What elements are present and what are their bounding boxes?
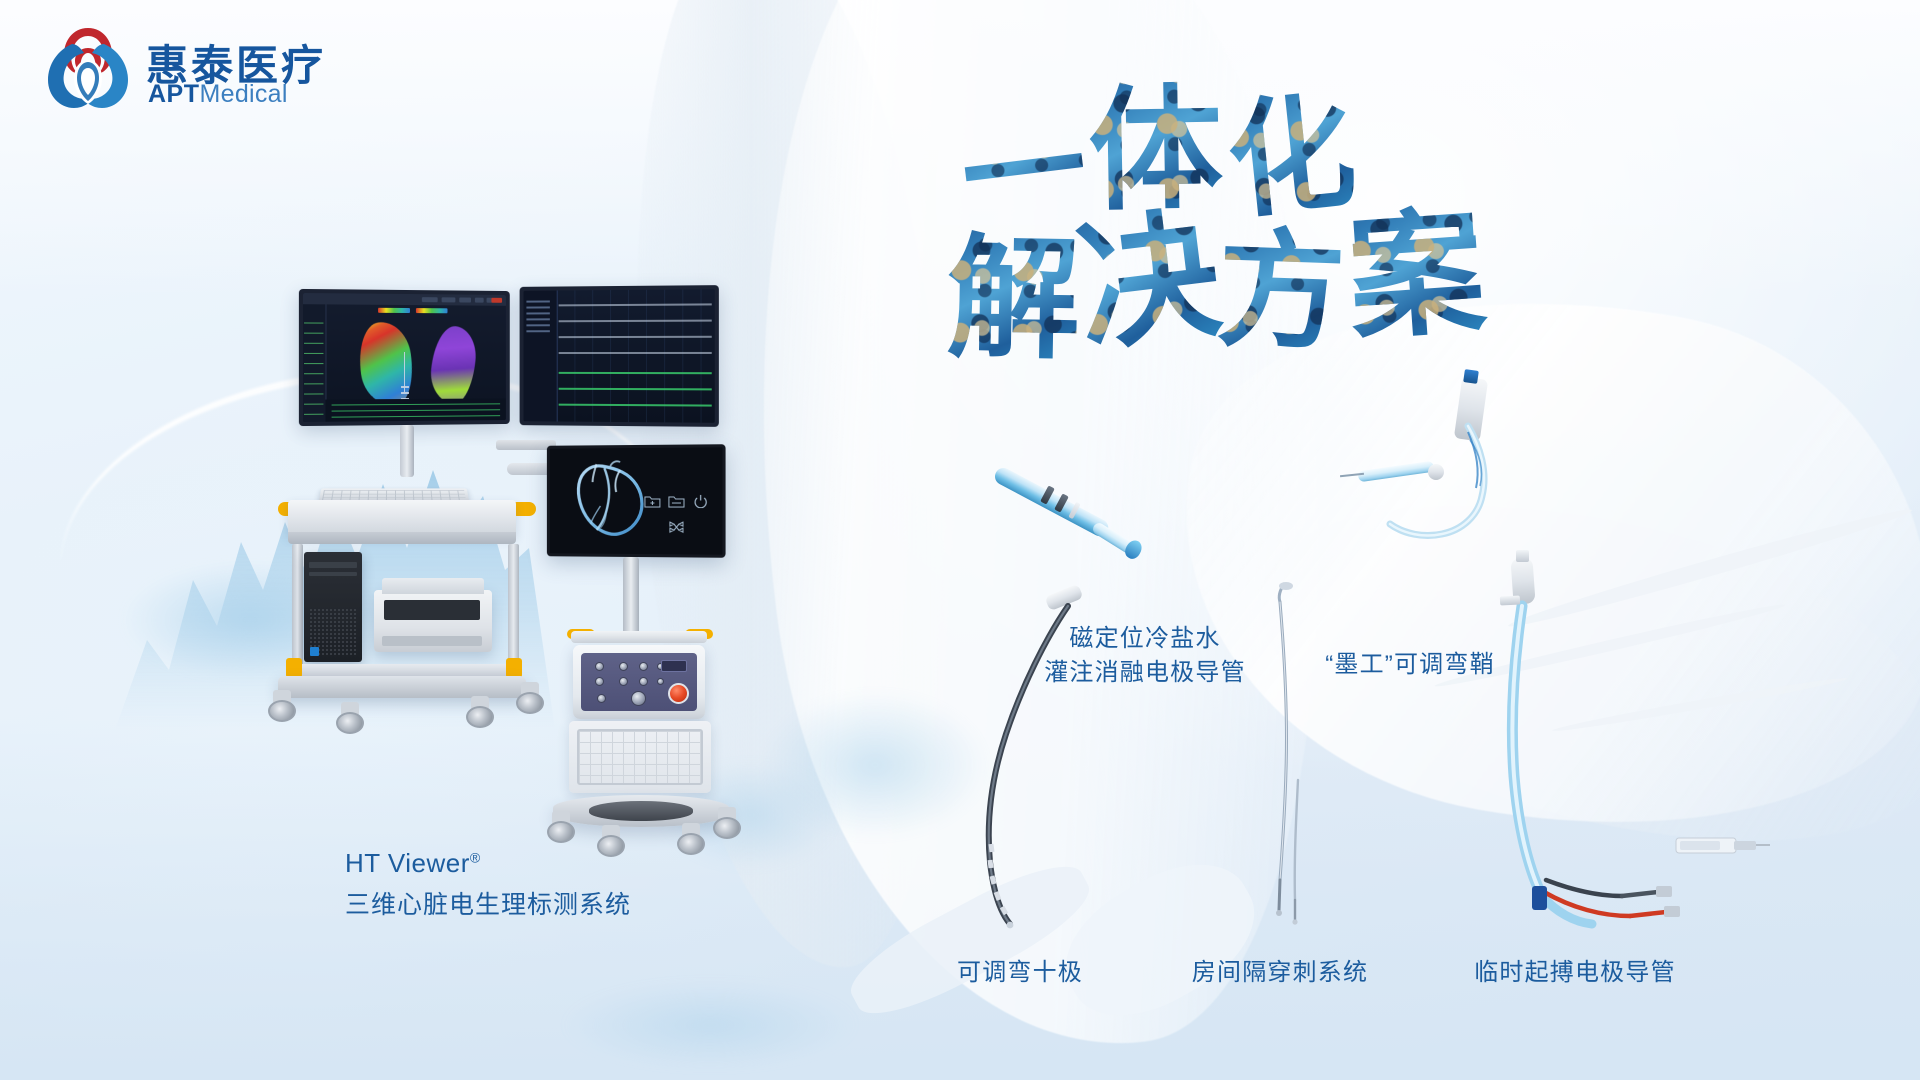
headline-char: 解 (946, 190, 1089, 385)
cart-post (292, 544, 303, 670)
caster-wheel (466, 696, 494, 728)
cart-base (278, 676, 526, 698)
catheter-electrode (401, 386, 409, 388)
headline-calligraphy: 一体化 解决方案 (960, 40, 1640, 340)
caster-wheel (547, 811, 575, 843)
strain-relief (1500, 595, 1520, 605)
brand-name-en-light: Medical (200, 80, 288, 108)
rf-ablation-generator (573, 645, 705, 719)
cart-accent-tab (506, 658, 522, 678)
cpu-badge (310, 647, 319, 656)
connector-port[interactable] (639, 677, 648, 686)
mapping-monitor (299, 289, 510, 426)
generator-shelf (571, 631, 707, 643)
brand-logo[interactable]: 惠泰医疗 APTMedical (42, 18, 342, 114)
luer-hub (1428, 464, 1444, 480)
product-label-line1: 房间隔穿刺系统 (1160, 956, 1400, 990)
headline-char: 方 (1214, 185, 1354, 375)
toolbar-button[interactable] (422, 297, 438, 302)
trademark-symbol: ® (470, 849, 481, 865)
mapping-sidebar (303, 304, 327, 422)
toolbar-button[interactable] (459, 297, 471, 302)
main-product-name: HT Viewer® (345, 845, 665, 883)
registration-icon[interactable] (668, 520, 685, 534)
connector-port[interactable] (639, 662, 648, 671)
product-temporary-pacing-catheter (1480, 550, 1770, 940)
ecg-software-ui (523, 289, 714, 423)
ecg-lead-list (523, 290, 557, 421)
heart-display-monitor (547, 444, 726, 558)
power-icon[interactable] (692, 494, 709, 508)
monitor-stand-post (400, 425, 414, 477)
caster-wheel (677, 823, 705, 855)
voltage-colorbar (416, 308, 448, 313)
pacing-catheter-body (1480, 590, 1770, 938)
status-display (661, 660, 687, 672)
headline-char: 决 (1065, 159, 1236, 379)
ecg-monitor (520, 285, 719, 427)
connector-port[interactable] (595, 662, 604, 671)
mapping-trace-panel (325, 398, 505, 421)
catheter-electrode (401, 392, 409, 394)
hub-connector (1463, 369, 1479, 384)
new-folder-icon[interactable] (644, 494, 661, 508)
cart-worktop (288, 500, 516, 536)
printer (374, 590, 492, 652)
cart-accent-tab (286, 658, 302, 678)
product-label-line1: “墨工”可调弯鞘 (1290, 648, 1530, 682)
ink-cloud (560, 980, 860, 1070)
cart-worktop-edge (288, 532, 516, 544)
generator-front-panel (581, 653, 697, 711)
product-label-line1: 可调弯十极 (900, 956, 1140, 990)
headline-char: 案 (1341, 161, 1496, 367)
product-ablation-catheter (990, 440, 1180, 610)
connector-port[interactable] (657, 678, 664, 685)
product-label-ablation-catheter: 磁定位冷盐水 灌注消融电极导管 (1010, 622, 1280, 690)
product-label-steerable-sheath: “墨工”可调弯鞘 (1290, 648, 1530, 682)
product-label-decapolar-catheter: 可调弯十极 (900, 956, 1140, 990)
sheath-tubing (1384, 420, 1584, 550)
main-product-name-text: HT Viewer (345, 848, 470, 878)
computer-tower (304, 552, 362, 662)
toolbar-button[interactable] (475, 298, 484, 303)
product-steerable-sheath (1340, 370, 1590, 560)
mapping-monitor-screen (303, 293, 506, 422)
hub-cap (1516, 550, 1529, 562)
cart-post (508, 544, 519, 670)
product-label-pacing-catheter: 临时起搏电极导管 (1450, 956, 1700, 990)
main-product-caption: HT Viewer® 三维心脏电生理标测系统 (345, 845, 665, 923)
storage-basket (577, 729, 703, 785)
ecg-monitor-screen (523, 289, 714, 423)
caster-wheel (268, 690, 296, 722)
archive-icon[interactable] (668, 494, 685, 508)
record-indicator (491, 298, 502, 303)
rf-generator-cart (545, 445, 875, 855)
heart-display-controls (644, 494, 710, 541)
caster-wheel (713, 807, 741, 839)
product-label-line1: 临时起搏电极导管 (1450, 956, 1700, 990)
apt-medical-interlocking-circles-logo (42, 22, 134, 110)
brand-name-en-bold: APT (148, 80, 200, 108)
caster-wheel (516, 682, 544, 714)
main-product-subtitle: 三维心脏电生理标测系统 (345, 887, 665, 923)
main-output-port[interactable] (631, 691, 646, 706)
banner-canvas: 惠泰医疗 APTMedical 一体化 解决方案 (0, 0, 1920, 1080)
display-stand-post (623, 557, 639, 635)
caster-wheel (336, 702, 364, 734)
connector-port[interactable] (619, 677, 628, 686)
voltage-map-3d (428, 324, 479, 406)
toolbar-button[interactable] (442, 297, 456, 302)
stop-button[interactable] (668, 683, 689, 704)
connector-port[interactable] (619, 662, 628, 671)
product-label-transseptal-system: 房间隔穿刺系统 (1160, 956, 1400, 990)
ground-port[interactable] (597, 694, 606, 703)
activation-map-3d (354, 319, 417, 410)
product-label-line1: 磁定位冷盐水 (1010, 622, 1280, 656)
voltage-colorbar (378, 308, 410, 313)
mapping-software-ui (303, 293, 506, 422)
cart-base-hub (589, 801, 693, 821)
ecg-grid (557, 289, 715, 423)
headline-line-2: 解决方案 (947, 171, 1489, 375)
product-label-line2: 灌注消融电极导管 (1010, 656, 1280, 690)
brand-name-en: APTMedical (148, 80, 288, 109)
connector-port[interactable] (595, 677, 604, 686)
